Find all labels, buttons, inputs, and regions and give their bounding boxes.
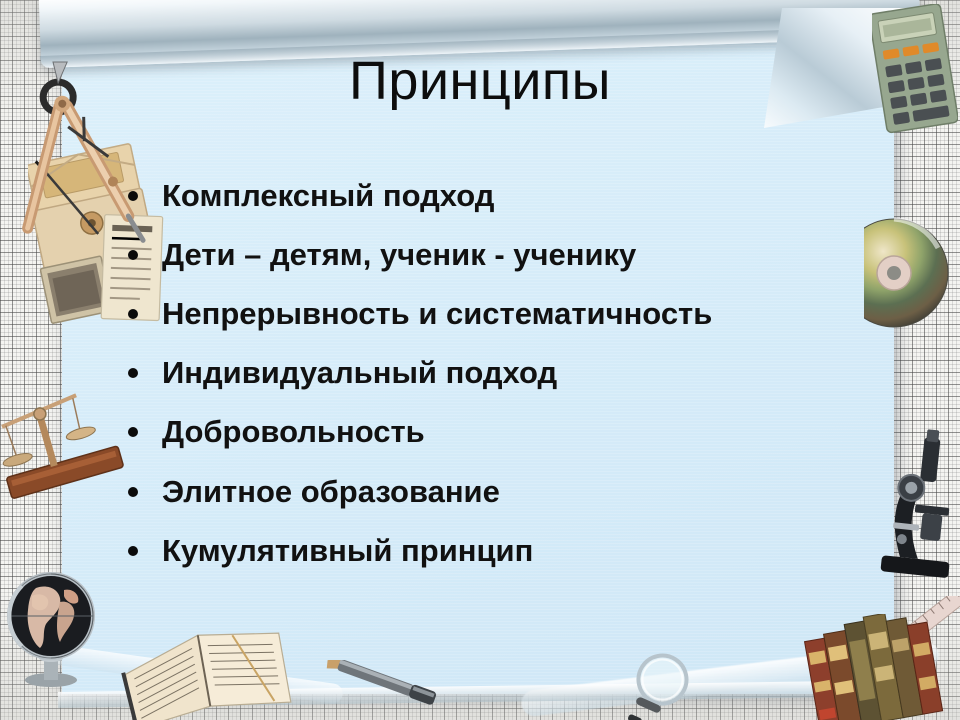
list-item: Комплексный подход — [122, 172, 882, 219]
list-item-label: Дети – детям, ученик - ученику — [162, 237, 636, 272]
list-item-label: Непрерывность и систематичность — [162, 296, 712, 331]
presentation-slide: Принципы Комплексный подход Дети – детям… — [0, 0, 960, 720]
pen-icon — [316, 660, 446, 712]
list-item-label: Кумулятивный принцип — [162, 533, 533, 568]
list-item-label: Комплексный подход — [162, 178, 494, 213]
bullet-marker — [128, 250, 138, 260]
open-book-icon — [118, 620, 298, 720]
slide-title: Принципы — [0, 52, 960, 111]
bullet-marker — [128, 309, 138, 319]
list-item: Элитное образование — [122, 468, 882, 515]
balance-scale-icon — [0, 388, 124, 508]
magnifier-icon — [620, 650, 740, 720]
bullet-marker — [128, 427, 138, 437]
list-item-label: Добровольность — [162, 414, 425, 449]
bullet-marker — [128, 368, 138, 378]
globe-icon — [2, 562, 100, 692]
list-item: Добровольность — [122, 408, 882, 455]
list-item-label: Элитное образование — [162, 474, 500, 509]
list-item: Дети – детям, ученик - ученику — [122, 231, 882, 278]
book-stack-icon — [804, 614, 944, 720]
list-item-label: Индивидуальный подход — [162, 355, 557, 390]
list-item: Кумулятивный принцип — [122, 527, 882, 574]
principles-list: Комплексный подход Дети – детям, ученик … — [122, 172, 882, 586]
list-item: Индивидуальный подход — [122, 349, 882, 396]
list-item: Непрерывность и систематичность — [122, 290, 882, 337]
bullet-marker — [128, 487, 138, 497]
bullet-marker — [128, 546, 138, 556]
bullet-marker — [128, 191, 138, 201]
